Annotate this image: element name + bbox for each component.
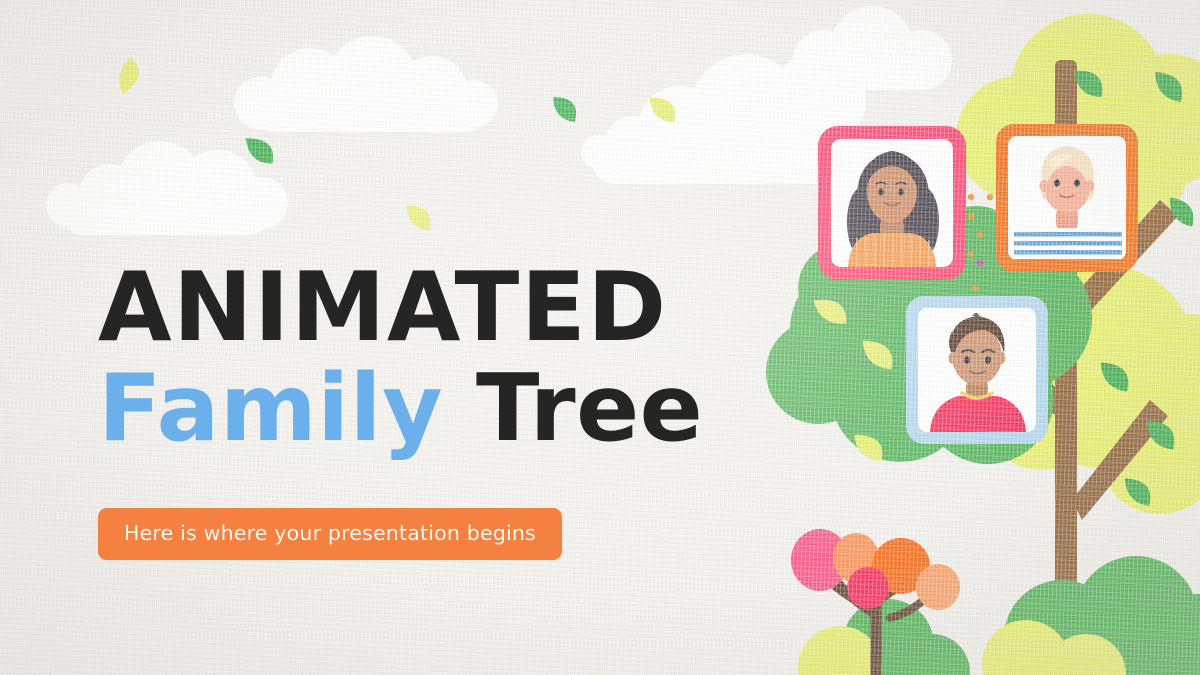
portrait-grandfather[interactable]	[996, 124, 1138, 275]
subtitle-banner[interactable]: Here is where your presentation begins	[98, 508, 562, 560]
floating-leaf-green-2	[552, 93, 578, 126]
page-title-highlight-word: Family	[98, 354, 443, 462]
portrait-grandmother[interactable]	[818, 126, 966, 280]
title-block: ANIMATED Family Tree	[98, 262, 798, 458]
canopy-leaf-green-on-yellow-e	[1169, 195, 1194, 230]
small-tree-bush	[798, 599, 970, 675]
portrait-child[interactable]	[906, 296, 1048, 444]
subtitle-text: Here is where your presentation begins	[124, 521, 536, 545]
cloud-group-top-center	[234, 36, 498, 132]
cloud-group-top-left	[46, 141, 288, 235]
floating-leaf-yellow-3	[406, 201, 433, 235]
page-title-rest-word: Tree	[476, 354, 703, 462]
floating-leaf-green-1	[246, 136, 274, 167]
page-title-line1: ANIMATED	[98, 262, 798, 355]
page-title-line2: Family Tree	[98, 359, 798, 458]
presentation-slide: ANIMATED Family Tree Here is where your …	[0, 0, 1200, 675]
cloud-group-top-right	[792, 6, 952, 94]
small-tree-blossoms	[791, 529, 960, 610]
floating-leaf-yellow-1	[117, 56, 141, 96]
